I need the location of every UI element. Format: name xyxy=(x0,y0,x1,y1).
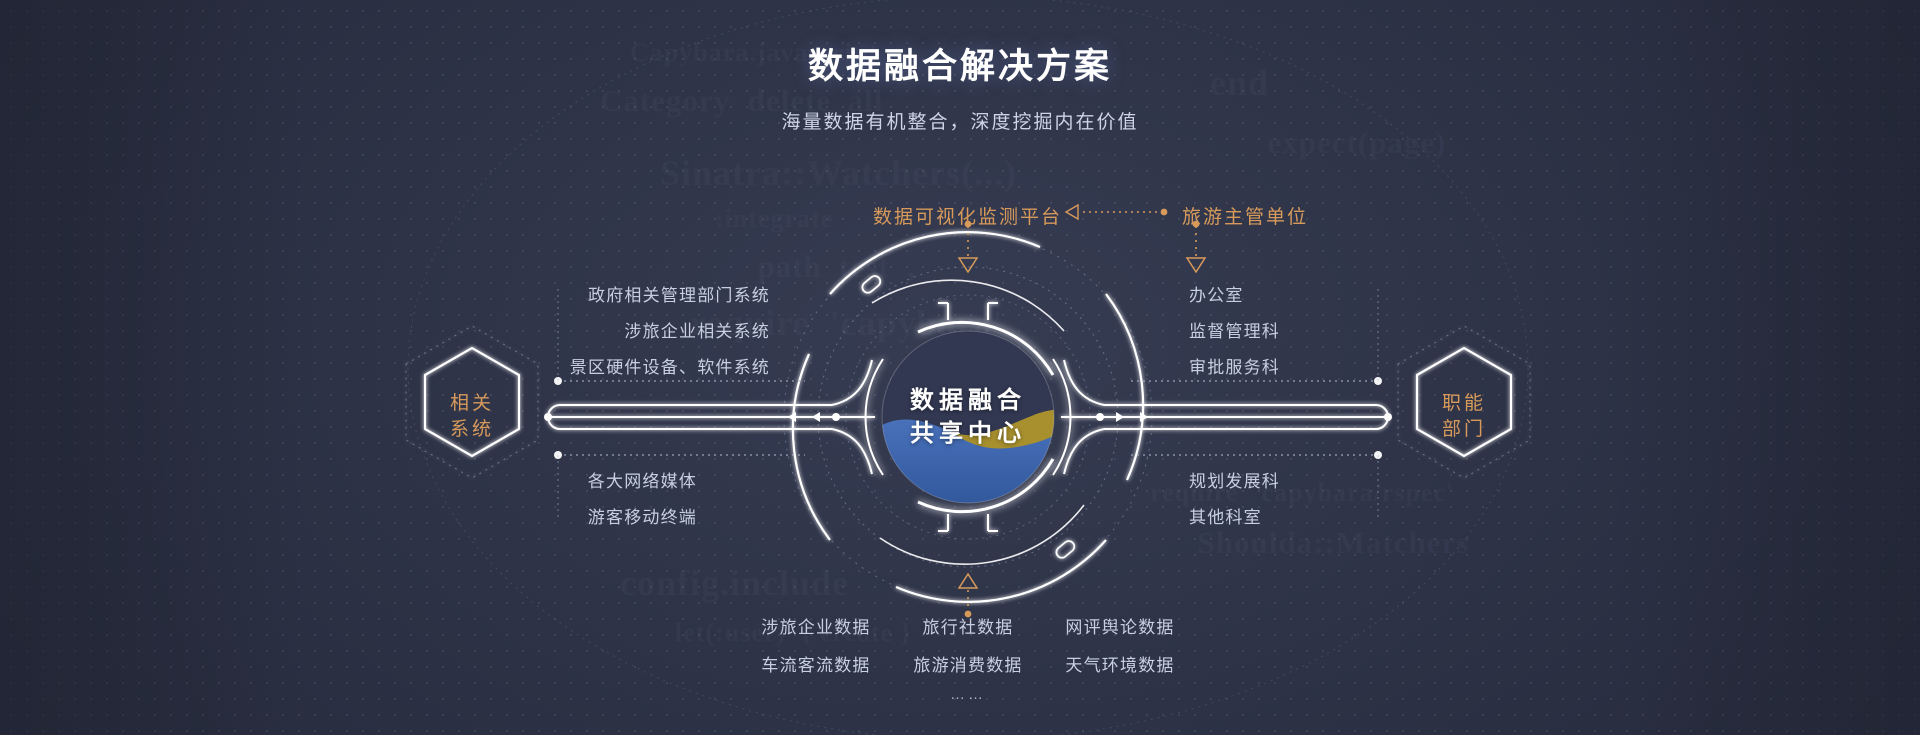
center-hub-line2: 共享中心 xyxy=(910,417,1026,450)
bottom-item-r1c0: 车流客流数据 xyxy=(761,651,870,676)
right-lower-item-0: 规划发展科 xyxy=(1189,467,1280,492)
left-item-0: 政府相关管理部门系统 xyxy=(588,281,770,306)
left-lower-item-0: 各大网络媒体 xyxy=(588,467,697,492)
hexagon-left-line2: 系统 xyxy=(412,417,532,443)
center-hub-label: 数据融合 共享中心 xyxy=(910,384,1026,450)
left-item-1: 涉旅企业相关系统 xyxy=(624,317,770,342)
bottom-item-r1c2: 天气环境数据 xyxy=(1065,651,1174,676)
arrow-bottom-up xyxy=(959,574,977,617)
bottom-item-r0c0: 涉旅企业数据 xyxy=(761,613,870,638)
arrow-authority-to-platform xyxy=(1066,205,1167,219)
hexagon-left-label: 相关 系统 xyxy=(412,391,532,443)
center-hub-line1: 数据融合 xyxy=(910,384,1026,417)
right-item-2: 审批服务科 xyxy=(1189,353,1280,378)
left-item-2: 景区硬件设备、软件系统 xyxy=(570,353,770,378)
left-lower-item-1: 游客移动终端 xyxy=(588,503,697,528)
bottom-item-r1c1: 旅游消费数据 xyxy=(913,651,1022,676)
hexagon-right-label: 职能 部门 xyxy=(1404,391,1524,443)
infographic-canvas: Capybara.javascriptCategory delete_allSi… xyxy=(0,0,1920,735)
hexagon-right-line1: 职能 xyxy=(1404,391,1524,417)
right-item-0: 办公室 xyxy=(1189,281,1244,306)
hexagon-right-line2: 部门 xyxy=(1404,417,1524,443)
bottom-ellipsis: …… xyxy=(950,686,986,703)
hexagon-left-line1: 相关 xyxy=(412,391,532,417)
label-tourism-authority: 旅游主管单位 xyxy=(1182,202,1308,229)
label-visualization-platform: 数据可视化监测平台 xyxy=(873,202,1062,229)
right-item-1: 监督管理科 xyxy=(1189,317,1280,342)
bottom-item-r0c1: 旅行社数据 xyxy=(923,613,1014,638)
bottom-item-r0c2: 网评舆论数据 xyxy=(1065,613,1174,638)
right-lower-item-1: 其他科室 xyxy=(1189,503,1262,528)
